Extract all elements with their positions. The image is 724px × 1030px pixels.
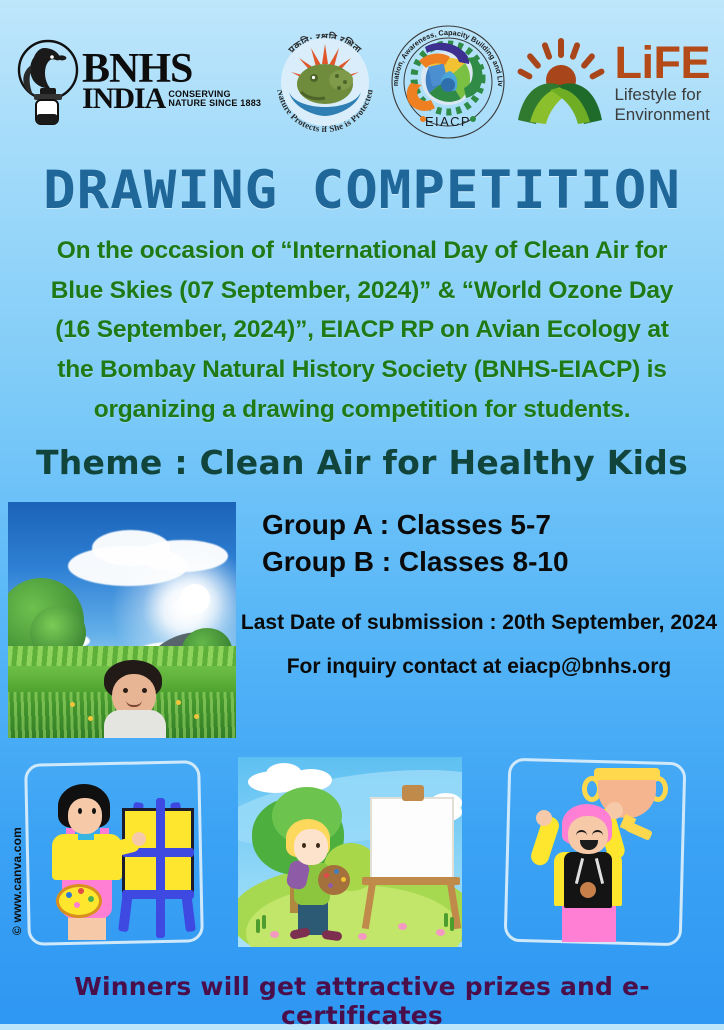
- life-mission-logo: LiFE Lifestyle for Environment: [514, 36, 710, 128]
- child-eye: [123, 688, 128, 693]
- theme-heading: Theme : Clean Air for Healthy Kids: [0, 443, 724, 482]
- description-line: organizing a drawing competition for stu…: [40, 390, 684, 430]
- description-line: (16 September, 2024)”, EIACP RP on Avian…: [40, 310, 684, 350]
- girl-painting-at-easel-illustration: [26, 762, 202, 944]
- moefcc-emblem: प्रकृति: रक्षति रक्षिता Nature Protects …: [269, 26, 381, 138]
- bnhs-india-text: INDIA: [82, 87, 165, 112]
- bnhs-india-logo: BNHS INDIA CONSERVING NATURE SINCE 1883: [14, 36, 261, 128]
- winner-pants: [562, 904, 616, 942]
- description-line: Blue Skies (07 September, 2024)” & “Worl…: [40, 271, 684, 311]
- child-in-meadow-photo: [8, 502, 236, 738]
- sun-leaves-icon: [514, 36, 606, 128]
- girl-hand: [132, 832, 146, 846]
- description-line: On the occasion of “International Day of…: [40, 231, 684, 271]
- winner-left-hand: [536, 810, 552, 826]
- sun-core: [180, 584, 210, 614]
- submission-deadline: Last Date of submission : 20th September…: [236, 611, 722, 635]
- hornbill-bird-icon: [14, 36, 80, 128]
- boy-with-palette-and-canvas-illustration: [238, 757, 462, 947]
- girl-face: [68, 798, 102, 834]
- life-tagline-line1: Lifestyle for: [614, 85, 710, 105]
- medal-icon: [580, 882, 596, 898]
- cloud: [138, 540, 228, 572]
- canvas-clip: [402, 785, 424, 801]
- winner-vest: [564, 852, 612, 908]
- description-line: the Bombay Natural History Society (BNHS…: [40, 350, 684, 390]
- child-eye: [142, 688, 147, 693]
- canva-watermark: © www.canva.com: [10, 816, 24, 946]
- prize-footer: Winners will get attractive prizes and e…: [0, 972, 724, 1030]
- group-a-label: Group A : Classes 5-7: [262, 507, 702, 544]
- eiacp-logo: Environmental Information, Awareness, Ca…: [389, 23, 507, 141]
- life-wordmark: LiFE: [614, 40, 710, 85]
- bnhs-tagline-line2: NATURE SINCE 1883: [168, 99, 261, 108]
- page-title: DRAWING COMPETITION: [0, 160, 724, 221]
- winner-holding-trophy-illustration: [506, 760, 684, 944]
- contact-email-line[interactable]: For inquiry contact at eiacp@bnhs.org: [236, 655, 722, 679]
- description-paragraph: On the occasion of “International Day of…: [40, 231, 684, 429]
- child-body: [104, 710, 166, 738]
- blank-canvas: [370, 797, 454, 881]
- life-tagline-line2: Environment: [614, 105, 710, 125]
- trophy-rim: [594, 768, 660, 780]
- group-list: Group A : Classes 5-7 Group B : Classes …: [262, 507, 702, 581]
- svg-text:EIACP: EIACP: [425, 114, 471, 129]
- group-b-label: Group B : Classes 8-10: [262, 544, 702, 581]
- boy-face: [294, 829, 328, 865]
- turtle-emblem-icon: [281, 38, 369, 126]
- logo-bar: BNHS INDIA CONSERVING NATURE SINCE 1883 …: [0, 22, 724, 142]
